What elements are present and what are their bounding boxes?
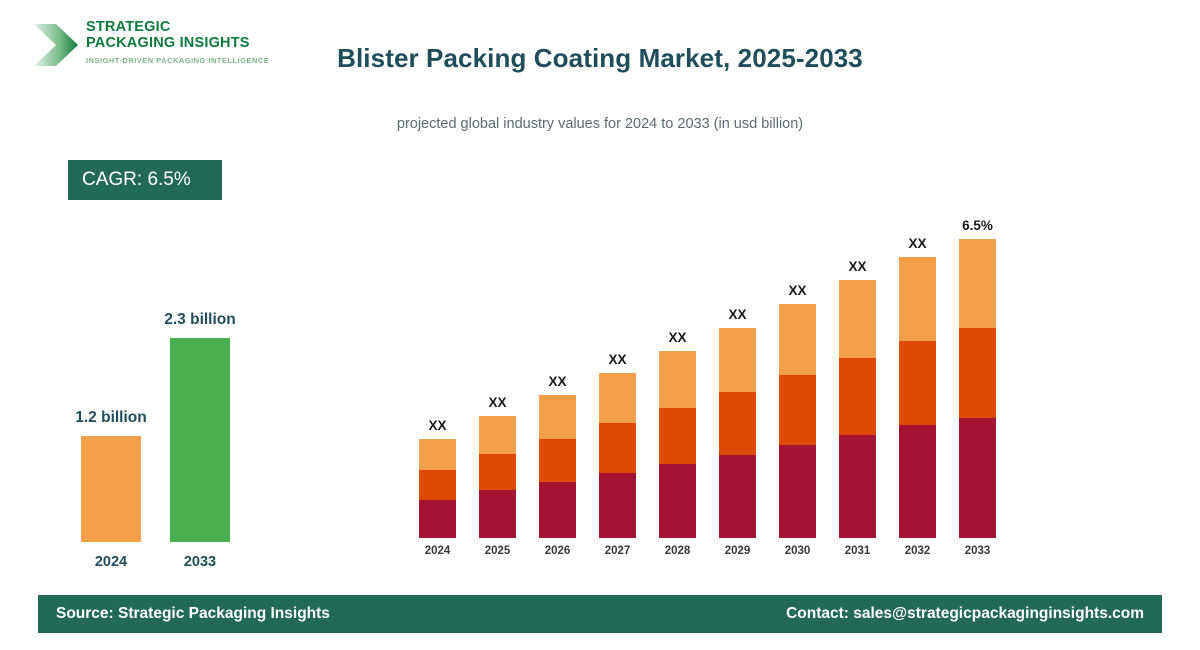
endpoint-comparison-chart: 1.2 billion20242.3 billion2033 — [55, 300, 265, 570]
category-label-2024: 2024 — [66, 554, 156, 570]
stacked-bar-label-2032: XX — [877, 236, 958, 251]
stack-2026 — [539, 395, 576, 538]
bar-value-label-2033: 2.3 billion — [130, 311, 270, 329]
segment-segment-bottom-2026 — [539, 482, 576, 538]
category-label-2025: 2025 — [465, 545, 530, 557]
chart-infographic: STRATEGIC PACKAGING INSIGHTS INSIGHT-DRI… — [0, 0, 1200, 650]
category-label-2031: 2031 — [825, 545, 890, 557]
stack-2025 — [479, 416, 516, 538]
category-label-2027: 2027 — [585, 545, 650, 557]
stacked-bar-label-2025: XX — [457, 395, 538, 410]
stacked-bar-label-2029: XX — [697, 307, 778, 322]
bar-2024 — [81, 436, 141, 542]
stacked-forecast-chart: XX2024XX2025XX2026XX2027XX2028XX2029XX20… — [400, 200, 1020, 560]
bar-2033 — [170, 338, 230, 542]
segment-segment-middle-2024 — [419, 470, 456, 500]
segment-segment-middle-2031 — [839, 358, 876, 435]
segment-segment-bottom-2028 — [659, 464, 696, 538]
stack-2029 — [719, 328, 756, 538]
segment-segment-top-2030 — [779, 304, 816, 375]
segment-segment-top-2025 — [479, 416, 516, 454]
stacked-bar-label-2030: XX — [757, 283, 838, 298]
stack-2031 — [839, 280, 876, 538]
stacked-bar-label-2024: XX — [397, 418, 478, 433]
stack-2024 — [419, 439, 456, 538]
stacked-bar-label-2026: XX — [517, 374, 598, 389]
stacked-bar-label-2031: XX — [817, 259, 898, 274]
footer-bar: Source: Strategic Packaging Insights Con… — [38, 595, 1162, 633]
segment-segment-bottom-2025 — [479, 490, 516, 538]
category-label-2032: 2032 — [885, 545, 950, 557]
brand-name-line1: STRATEGIC — [86, 20, 269, 36]
stacked-bar-label-2028: XX — [637, 330, 718, 345]
category-label-2024: 2024 — [405, 545, 470, 557]
segment-segment-bottom-2024 — [419, 500, 456, 538]
segment-segment-bottom-2027 — [599, 473, 636, 538]
segment-segment-middle-2027 — [599, 423, 636, 473]
segment-segment-top-2028 — [659, 351, 696, 408]
stack-2033 — [959, 239, 996, 538]
segment-segment-middle-2032 — [899, 341, 936, 425]
stack-2032 — [899, 257, 936, 538]
footer-source: Source: Strategic Packaging Insights — [56, 605, 330, 623]
category-label-2030: 2030 — [765, 545, 830, 557]
stack-2027 — [599, 373, 636, 538]
segment-segment-top-2033 — [959, 239, 996, 328]
category-label-2033: 2033 — [155, 554, 245, 570]
segment-segment-top-2027 — [599, 373, 636, 423]
stack-2028 — [659, 351, 696, 538]
segment-segment-bottom-2030 — [779, 445, 816, 538]
segment-segment-top-2026 — [539, 395, 576, 439]
segment-segment-bottom-2029 — [719, 455, 756, 538]
bar-value-label-2024: 1.2 billion — [41, 409, 181, 427]
category-label-2033: 2033 — [945, 545, 1010, 557]
page-title: Blister Packing Coating Market, 2025-203… — [0, 43, 1200, 74]
segment-segment-top-2024 — [419, 439, 456, 470]
segment-segment-bottom-2032 — [899, 425, 936, 538]
category-label-2029: 2029 — [705, 545, 770, 557]
segment-segment-middle-2029 — [719, 392, 756, 455]
segment-segment-middle-2030 — [779, 375, 816, 445]
footer-contact[interactable]: Contact: sales@strategicpackaginginsight… — [786, 605, 1144, 623]
stacked-bar-label-2027: XX — [577, 352, 658, 367]
segment-segment-top-2032 — [899, 257, 936, 341]
segment-segment-top-2029 — [719, 328, 756, 392]
page-subtitle: projected global industry values for 202… — [0, 116, 1200, 132]
segment-segment-bottom-2033 — [959, 418, 996, 538]
segment-segment-middle-2025 — [479, 454, 516, 490]
cagr-badge: CAGR: 6.5% — [68, 160, 222, 200]
stack-2030 — [779, 304, 816, 538]
category-label-2028: 2028 — [645, 545, 710, 557]
segment-segment-bottom-2031 — [839, 435, 876, 538]
category-label-2026: 2026 — [525, 545, 590, 557]
segment-segment-middle-2026 — [539, 439, 576, 482]
segment-segment-middle-2028 — [659, 408, 696, 464]
stacked-bar-label-2033: 6.5% — [937, 218, 1018, 233]
segment-segment-middle-2033 — [959, 328, 996, 418]
segment-segment-top-2031 — [839, 280, 876, 358]
